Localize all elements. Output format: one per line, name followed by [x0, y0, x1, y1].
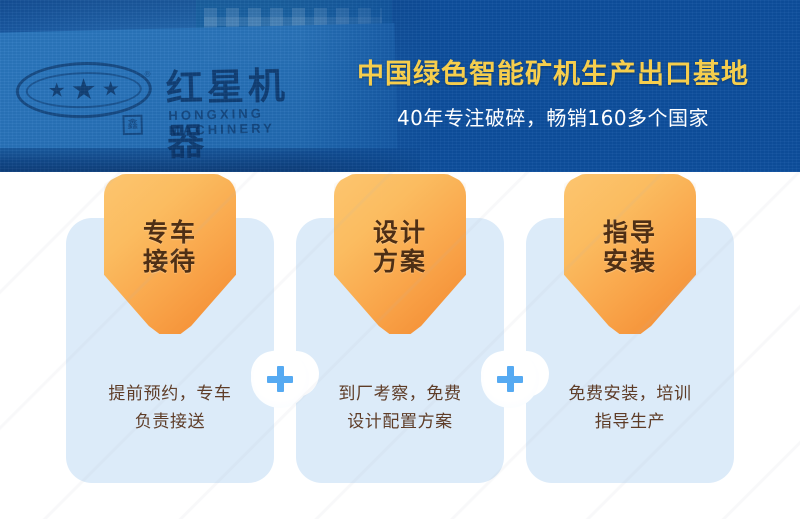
step-description: 免费安装，培训 指导生产 — [536, 380, 724, 436]
company-logo: ★ ★ ★ ® 鑫 红星机器 HONGXING MACHINERY — [13, 54, 325, 140]
step-badge-line1: 专车 — [143, 218, 197, 248]
star-icon-center: ★ — [70, 75, 97, 105]
star-icon-left: ★ — [48, 81, 66, 101]
service-steps-section: 专车 接待 提前预约，专车 负责接送 设计 方案 到厂考察，免费 设计配置方案 … — [0, 172, 800, 519]
step-description-line2: 负责接送 — [76, 408, 264, 436]
step-description-line1: 到厂考察，免费 — [306, 380, 494, 408]
step-description-line1: 免费安装，培训 — [536, 380, 724, 408]
plus-icon — [251, 350, 309, 408]
plus-bar-vertical — [277, 366, 284, 392]
plus-bar-vertical — [507, 366, 514, 392]
step-description: 到厂考察，免费 设计配置方案 — [306, 380, 494, 436]
seal-stamp-icon: 鑫 — [122, 115, 142, 135]
registered-trademark-icon: ® — [144, 69, 150, 78]
step-badge-shield: 专车 接待 — [104, 174, 236, 334]
step-description-line1: 提前预约，专车 — [76, 380, 264, 408]
header-banner: ★ ★ ★ ® 鑫 红星机器 HONGXING MACHINERY 中国绿色智能… — [0, 0, 800, 172]
step-badge-shield: 设计 方案 — [334, 174, 466, 334]
step-badge-line2: 接待 — [143, 247, 197, 277]
step-badge-line2: 方案 — [373, 247, 427, 277]
step-description-line2: 指导生产 — [536, 408, 724, 436]
three-stars-emblem-icon: ★ ★ ★ ® — [15, 60, 152, 119]
service-step-card[interactable]: 设计 方案 到厂考察，免费 设计配置方案 — [296, 218, 504, 483]
service-step-card[interactable]: 指导 安装 免费安装，培训 指导生产 — [526, 218, 734, 483]
plus-icon — [481, 350, 539, 408]
step-badge-line1: 设计 — [373, 218, 427, 248]
header-subtitle: 40年专注破碎，畅销160多个国家 — [328, 102, 778, 131]
service-step-card[interactable]: 专车 接待 提前预约，专车 负责接送 — [66, 218, 274, 483]
step-badge-line1: 指导 — [603, 218, 657, 248]
step-badge-line2: 安装 — [603, 247, 657, 277]
step-description: 提前预约，专车 负责接送 — [76, 380, 264, 436]
star-icon-right: ★ — [102, 79, 120, 99]
step-description-line2: 设计配置方案 — [306, 408, 494, 436]
header-title: 中国绿色智能矿机生产出口基地 — [328, 52, 778, 91]
step-badge-shield: 指导 安装 — [564, 174, 696, 334]
